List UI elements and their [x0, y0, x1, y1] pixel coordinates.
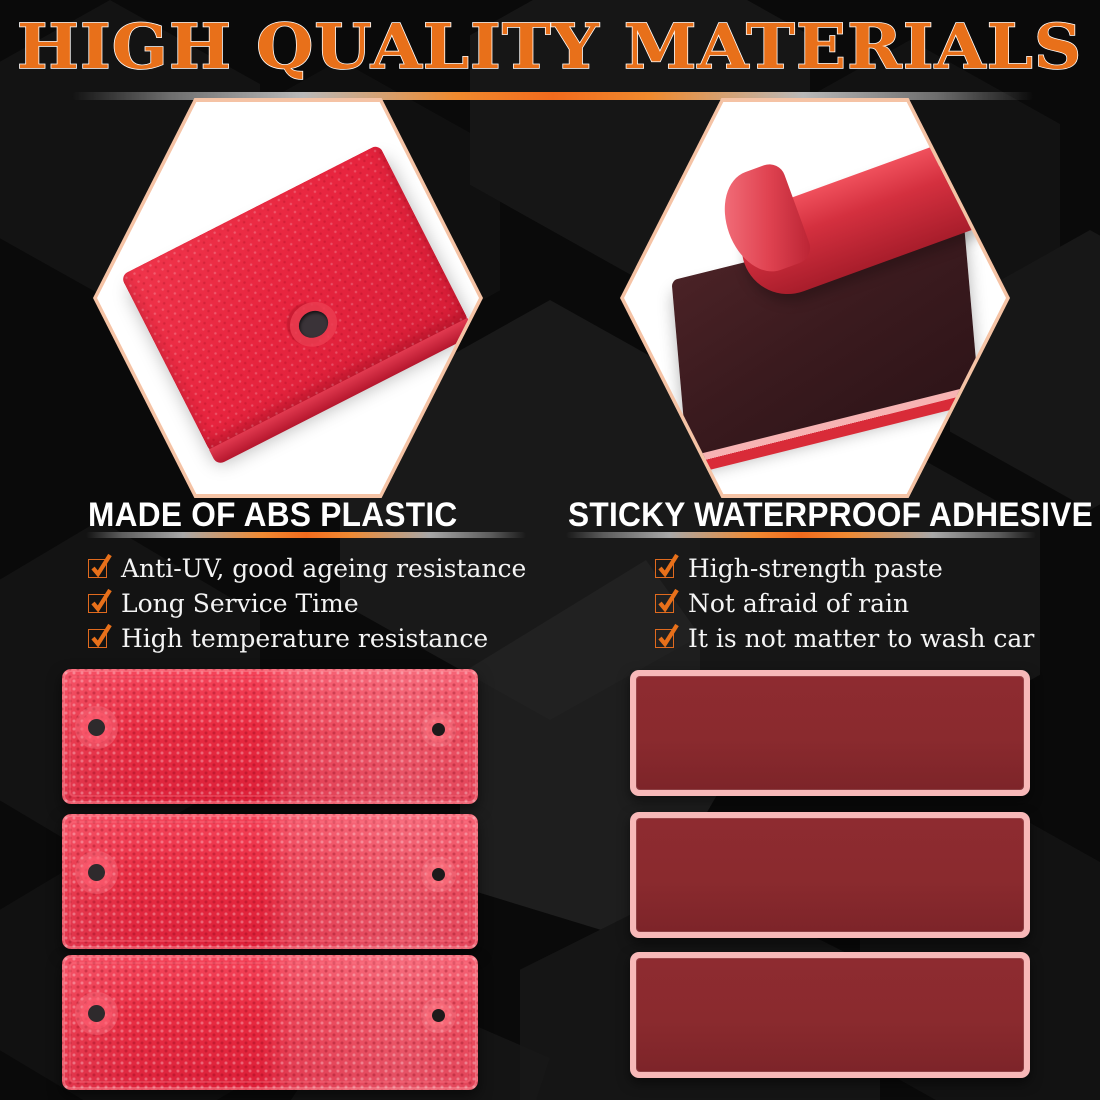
reflector-mounting-hole-right	[432, 868, 445, 881]
reflector-product	[62, 955, 478, 1090]
adhesive-pad-surface	[636, 958, 1024, 1072]
list-item: Long Service Time	[88, 587, 526, 620]
reflector-inner-border	[69, 962, 471, 1083]
page-title-container: HIGH QUALITY MATERIALS	[0, 14, 1100, 79]
check-icon	[655, 559, 674, 578]
reflector-mounting-hole-right	[432, 1009, 445, 1022]
adhesive-pad-product	[630, 952, 1030, 1078]
feature-list-adhesive: High-strength paste Not afraid of rain I…	[655, 552, 1034, 657]
reflector-mounting-hole-left	[88, 719, 105, 736]
check-icon	[655, 594, 674, 613]
section-divider-right	[566, 532, 1036, 538]
reflector-mounting-hole-left	[88, 864, 105, 881]
reflector-mounting-hole-left	[88, 1005, 105, 1022]
adhesive-pad-surface	[636, 676, 1024, 790]
page-title: HIGH QUALITY MATERIALS	[17, 14, 1083, 79]
reflector-product	[62, 669, 478, 804]
feature-list-abs-plastic: Anti-UV, good ageing resistance Long Ser…	[88, 552, 526, 657]
section-divider-left	[86, 532, 526, 538]
list-item: Not afraid of rain	[655, 587, 1034, 620]
adhesive-pad-product	[630, 670, 1030, 796]
section-heading-abs-plastic: MADE OF ABS PLASTIC	[88, 496, 458, 535]
list-item-label: High temperature resistance	[121, 626, 488, 651]
check-icon	[88, 594, 107, 613]
check-icon	[88, 629, 107, 648]
reflector-inner-border	[69, 676, 471, 797]
check-icon	[655, 629, 674, 648]
list-item-label: Not afraid of rain	[688, 591, 909, 616]
list-item: High temperature resistance	[88, 622, 526, 655]
list-item: High-strength paste	[655, 552, 1034, 585]
reflector-product	[62, 814, 478, 949]
list-item-label: Anti-UV, good ageing resistance	[121, 556, 526, 581]
reflector-inner-border	[69, 821, 471, 942]
section-heading-adhesive: STICKY WATERPROOF ADHESIVE	[568, 496, 1093, 535]
list-item-label: High-strength paste	[688, 556, 943, 581]
adhesive-pad-product	[630, 812, 1030, 938]
list-item: It is not matter to wash car	[655, 622, 1034, 655]
check-icon	[88, 559, 107, 578]
reflector-plate-body	[120, 144, 469, 454]
infographic-page: HIGH QUALITY MATERIALS	[0, 0, 1100, 1100]
reflector-mounting-hole-right	[432, 723, 445, 736]
list-item-label: It is not matter to wash car	[688, 626, 1034, 651]
list-item: Anti-UV, good ageing resistance	[88, 552, 526, 585]
adhesive-pad-surface	[636, 818, 1024, 932]
list-item-label: Long Service Time	[121, 591, 359, 616]
